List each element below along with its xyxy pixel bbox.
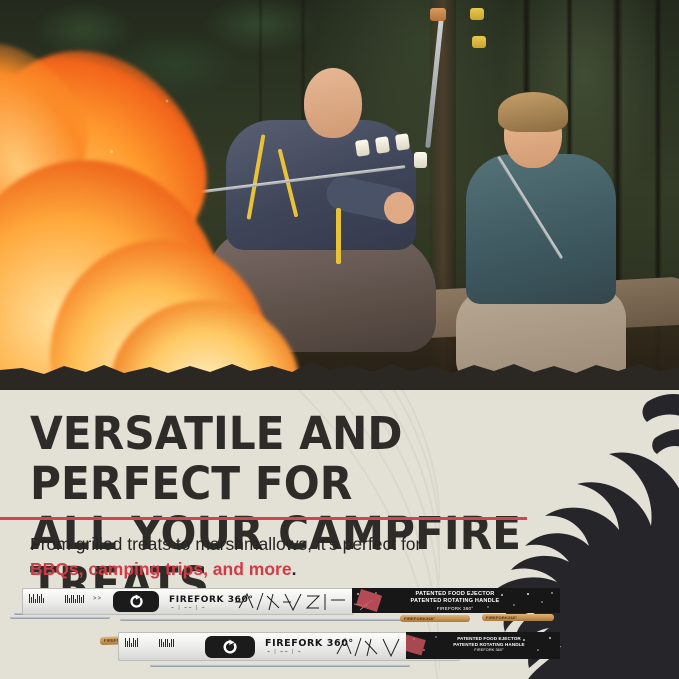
patent-line-1: PATENTED FOOD EJECTOR: [370, 591, 540, 598]
package-chevrons: >>: [93, 596, 102, 602]
marshmallow: [375, 136, 390, 154]
patent-line-2: PATENTED ROTATING HANDLE: [428, 642, 550, 648]
man-head: [304, 68, 362, 138]
headline-line-1: VERSATILE AND PERFECT FOR: [30, 409, 556, 509]
marshmallow: [395, 133, 410, 151]
boy-figure: [466, 92, 616, 342]
handle-brand: FIREFORK360°: [486, 615, 517, 620]
product-infographic: VERSATILE AND PERFECT FOR ALL YOUR CAMPF…: [0, 0, 679, 679]
package-icon-row: ⌁ | ⌁⌁ | ⌁: [171, 605, 206, 611]
rotating-arrow-logo: [205, 636, 255, 658]
rotating-arrow-icon: [129, 594, 144, 609]
decorative-sketch: [233, 590, 351, 613]
ember: [166, 100, 168, 102]
jacket-cord: [336, 208, 341, 264]
handle-brand: FIREFORK360°: [404, 616, 435, 621]
fork-rod: [150, 664, 410, 667]
package-sleeve-light: >> FIREFORK 360° ⌁ | ⌁⌁ | ⌁: [22, 588, 354, 615]
patent-line-2: PATENTED ROTATING HANDLE: [370, 598, 540, 605]
subheadline-highlight: BBQs, camping trips, and more: [30, 559, 292, 579]
barcode-icon: [65, 595, 84, 603]
package-sleeve-dark: PATENTED FOOD EJECTOR PATENTED ROTATING …: [352, 588, 560, 613]
rotating-arrow-logo: [113, 591, 159, 612]
campfire: [0, 40, 290, 390]
patent-callout: PATENTED FOOD EJECTOR PATENTED ROTATING …: [370, 591, 540, 612]
patent-brand: FIREFORK 360°: [370, 606, 540, 612]
wood-handle: FIREFORK360°: [482, 614, 554, 621]
marshmallow: [414, 152, 427, 168]
subheadline: From grilled treats to marshmallows, it'…: [30, 532, 550, 582]
package-sleeve-dark: PATENTED FOOD EJECTOR PATENTED ROTATING …: [406, 632, 560, 659]
roasted-item: [472, 36, 486, 48]
patent-callout: PATENTED FOOD EJECTOR PATENTED ROTATING …: [428, 636, 550, 653]
red-divider: [0, 517, 527, 520]
barcode-icon: [159, 639, 174, 647]
ember: [20, 320, 23, 323]
hero-photo: [0, 0, 679, 390]
barcode-icon: [125, 638, 138, 647]
patent-brand: FIREFORK 360°: [428, 648, 550, 653]
subheadline-period: .: [292, 559, 297, 579]
barcode-icon: [29, 594, 44, 603]
man-hand: [384, 192, 414, 224]
wood-handle: FIREFORK360°: [400, 615, 470, 622]
subheadline-line-1: From grilled treats to marshmallows, it'…: [30, 532, 550, 557]
roasted-item: [470, 8, 484, 20]
ember: [56, 292, 58, 294]
boy-hair: [498, 92, 568, 132]
rotating-arrow-icon: [222, 639, 238, 655]
fork-rod: [120, 618, 420, 621]
package-icon-row: ⌁ | ⌁⌁ | ⌁: [267, 649, 302, 655]
ember: [110, 150, 113, 153]
torn-edge-divider: [0, 356, 679, 390]
marshmallow: [355, 139, 370, 157]
product-package-bottom: FIREFORK360° FIREFORK 360° ⌁ | ⌁⌁ | ⌁: [0, 622, 679, 670]
subheadline-line-2: BBQs, camping trips, and more.: [30, 557, 550, 582]
roasted-item: [430, 8, 446, 21]
